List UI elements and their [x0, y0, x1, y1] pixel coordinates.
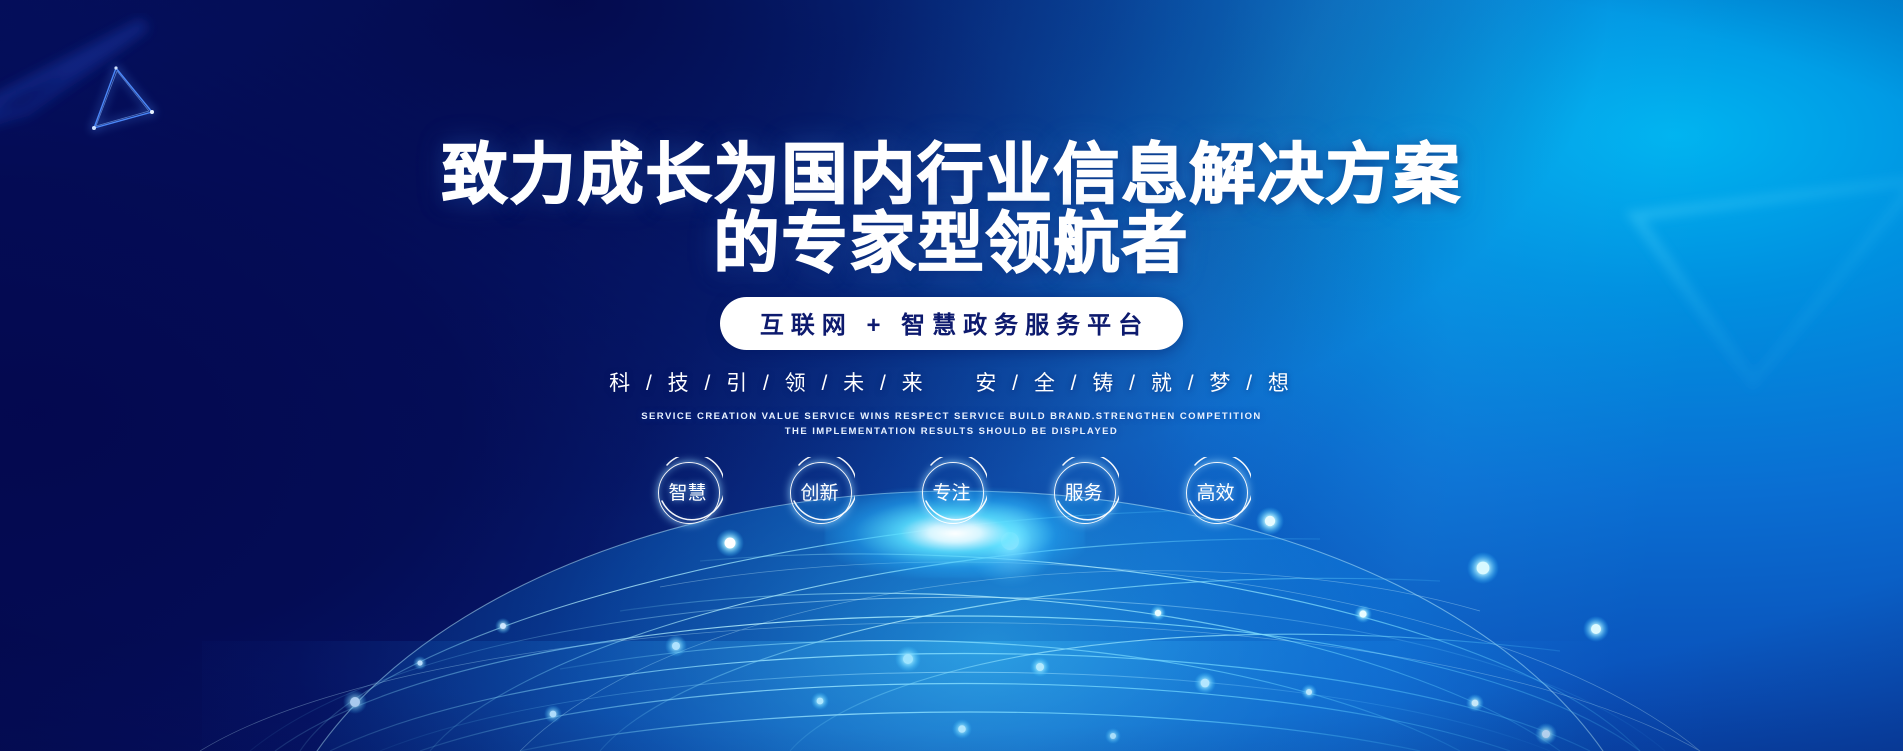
banner-content: 致力成长为国内行业信息解决方案 的专家型领航者 互联网 + 智慧政务服务平台 科…: [0, 0, 1903, 522]
english-tagline-line-2: THE IMPLEMENTATION RESULTS SHOULD BE DIS…: [0, 425, 1903, 440]
value-badge-gaoxiao[interactable]: 高效: [1186, 462, 1246, 522]
english-tagline-line-1: SERVICE CREATION VALUE SERVICE WINS RESP…: [0, 410, 1903, 425]
badge-label: 服务: [1064, 478, 1102, 505]
badge-label: 高效: [1196, 478, 1234, 505]
english-tagline: SERVICE CREATION VALUE SERVICE WINS RESP…: [0, 410, 1903, 439]
value-badge-fuwu[interactable]: 服务: [1054, 462, 1114, 522]
slogan-left: 科 / 技 / 引 / 领 / 未 / 来: [609, 372, 928, 395]
value-badge-row: 智慧 创新 专注 服务: [0, 462, 1903, 522]
value-badge-zhihui[interactable]: 智慧: [658, 462, 718, 522]
badge-label: 专注: [932, 478, 970, 505]
slogan-right: 安 / 全 / 铸 / 就 / 梦 / 想: [975, 372, 1294, 395]
badge-label: 创新: [800, 478, 838, 505]
value-badge-zhuanzhu[interactable]: 专注: [922, 462, 982, 522]
platform-pill-label: 互联网 + 智慧政务服务平台: [720, 297, 1183, 350]
badge-label: 智慧: [668, 478, 706, 505]
pill-wrapper: 互联网 + 智慧政务服务平台: [0, 297, 1903, 350]
headline-line-2: 的专家型领航者: [0, 209, 1903, 278]
headline-line-1: 致力成长为国内行业信息解决方案: [442, 137, 1462, 211]
hero-banner: 致力成长为国内行业信息解决方案 的专家型领航者 互联网 + 智慧政务服务平台 科…: [0, 0, 1903, 751]
page-title: 致力成长为国内行业信息解决方案 的专家型领航者: [0, 0, 1903, 277]
value-badge-chuangxin[interactable]: 创新: [790, 462, 850, 522]
slogan-row: 科 / 技 / 引 / 领 / 未 / 来 安 / 全 / 铸 / 就 / 梦 …: [0, 367, 1903, 397]
